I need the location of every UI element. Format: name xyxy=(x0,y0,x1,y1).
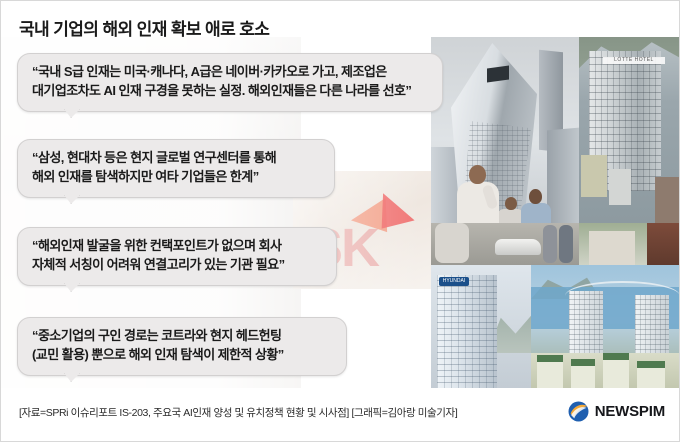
low-building-2 xyxy=(609,169,631,205)
infographic-root: SK LOTTE HOTEL xyxy=(0,0,680,442)
low-rise-3 xyxy=(603,358,629,389)
photo-brick-wall xyxy=(647,223,679,265)
hyundai-sign: HYUNDAI xyxy=(439,277,469,286)
brand-lockup: NEWSPIM xyxy=(568,401,665,422)
pedestrian-2-body xyxy=(521,203,551,223)
photo-lotte-hotel: LOTTE HOTEL xyxy=(579,37,679,223)
old-building-wall xyxy=(589,231,635,265)
street-person-3 xyxy=(559,225,573,263)
quote-bubble-1: “국내 S급 인재는 미국·캐나다, A급은 네이버·카카오로 가고, 제조업은… xyxy=(17,53,443,112)
quote-3-line-1: “해외인재 발굴을 위한 컨택포인트가 없으며 회사 xyxy=(32,237,322,256)
harbor-low-rise-row xyxy=(531,353,679,389)
low-rise-2 xyxy=(571,364,595,389)
photo-hyundai-building: HYUNDAI xyxy=(431,265,531,389)
quote-bubble-2: “삼성, 현대차 등은 현지 글로벌 연구센터를 통해 해외 인재를 탐색하지만… xyxy=(17,139,335,198)
building-shape-c xyxy=(547,128,579,223)
brand-name: NEWSPIM xyxy=(595,403,665,420)
street-person-2 xyxy=(543,225,557,263)
pedestrian-2-head xyxy=(529,189,542,204)
quote-1-line-1: “국내 S급 인재는 미국·캐나다, A급은 네이버·카카오로 가고, 제조업은 xyxy=(32,63,428,82)
newspim-swoosh-logo-icon xyxy=(568,401,589,422)
photo-street-pedestrians xyxy=(431,223,579,265)
pedestrian-1-head xyxy=(469,165,486,184)
street-car xyxy=(495,239,541,255)
pedestrian-3-head xyxy=(505,197,517,210)
low-building-1 xyxy=(581,155,607,197)
footer-bar: [자료=SPRi 이슈리포트 IS-203, 주요국 AI인재 양성 및 유치정… xyxy=(1,388,680,441)
source-credit: [자료=SPRi 이슈리포트 IS-203, 주요국 AI인재 양성 및 유치정… xyxy=(19,405,457,420)
photo-glass-tower xyxy=(431,37,579,223)
quote-1-line-2: 대기업조차도 AI 인재 구경을 못하는 실정. 해외인재들은 다른 나라를 선… xyxy=(32,82,428,101)
hyundai-window-grid xyxy=(437,275,497,389)
hyundai-tower-shape: HYUNDAI xyxy=(437,275,497,389)
street-person-1 xyxy=(435,223,469,263)
low-rise-1 xyxy=(537,360,563,389)
quote-2-line-2: 해외 인재를 탐색하지만 여타 기업들은 한계” xyxy=(32,168,320,187)
quote-3-line-2: 자체적 서칭이 어려워 연결고리가 있는 기관 필요” xyxy=(32,256,322,275)
pedestrian-3-body xyxy=(497,209,524,223)
low-building-3 xyxy=(655,177,679,223)
quote-bubble-4: “중소기업의 구인 경로는 코트라와 현지 헤드헌팅 (교민 활용) 뿐으로 해… xyxy=(17,317,347,376)
low-rise-4 xyxy=(637,366,665,389)
photo-old-building xyxy=(579,223,647,265)
quote-2-line-1: “삼성, 현대차 등은 현지 글로벌 연구센터를 통해 xyxy=(32,149,320,168)
lotte-hotel-sign: LOTTE HOTEL xyxy=(603,57,665,64)
quote-bubble-3: “해외인재 발굴을 위한 컨택포인트가 없으며 회사 자체적 서칭이 어려워 연… xyxy=(17,227,337,286)
quote-4-line-1: “중소기업의 구인 경로는 코트라와 현지 헤드헌팅 xyxy=(32,327,332,346)
quote-4-line-2: (교민 활용) 뿐으로 해외 인재 탐색이 제한적 상황” xyxy=(32,346,332,365)
page-title: 국내 기업의 해외 인재 확보 애로 호소 xyxy=(19,15,269,40)
photo-harbor-skyline xyxy=(531,265,679,389)
